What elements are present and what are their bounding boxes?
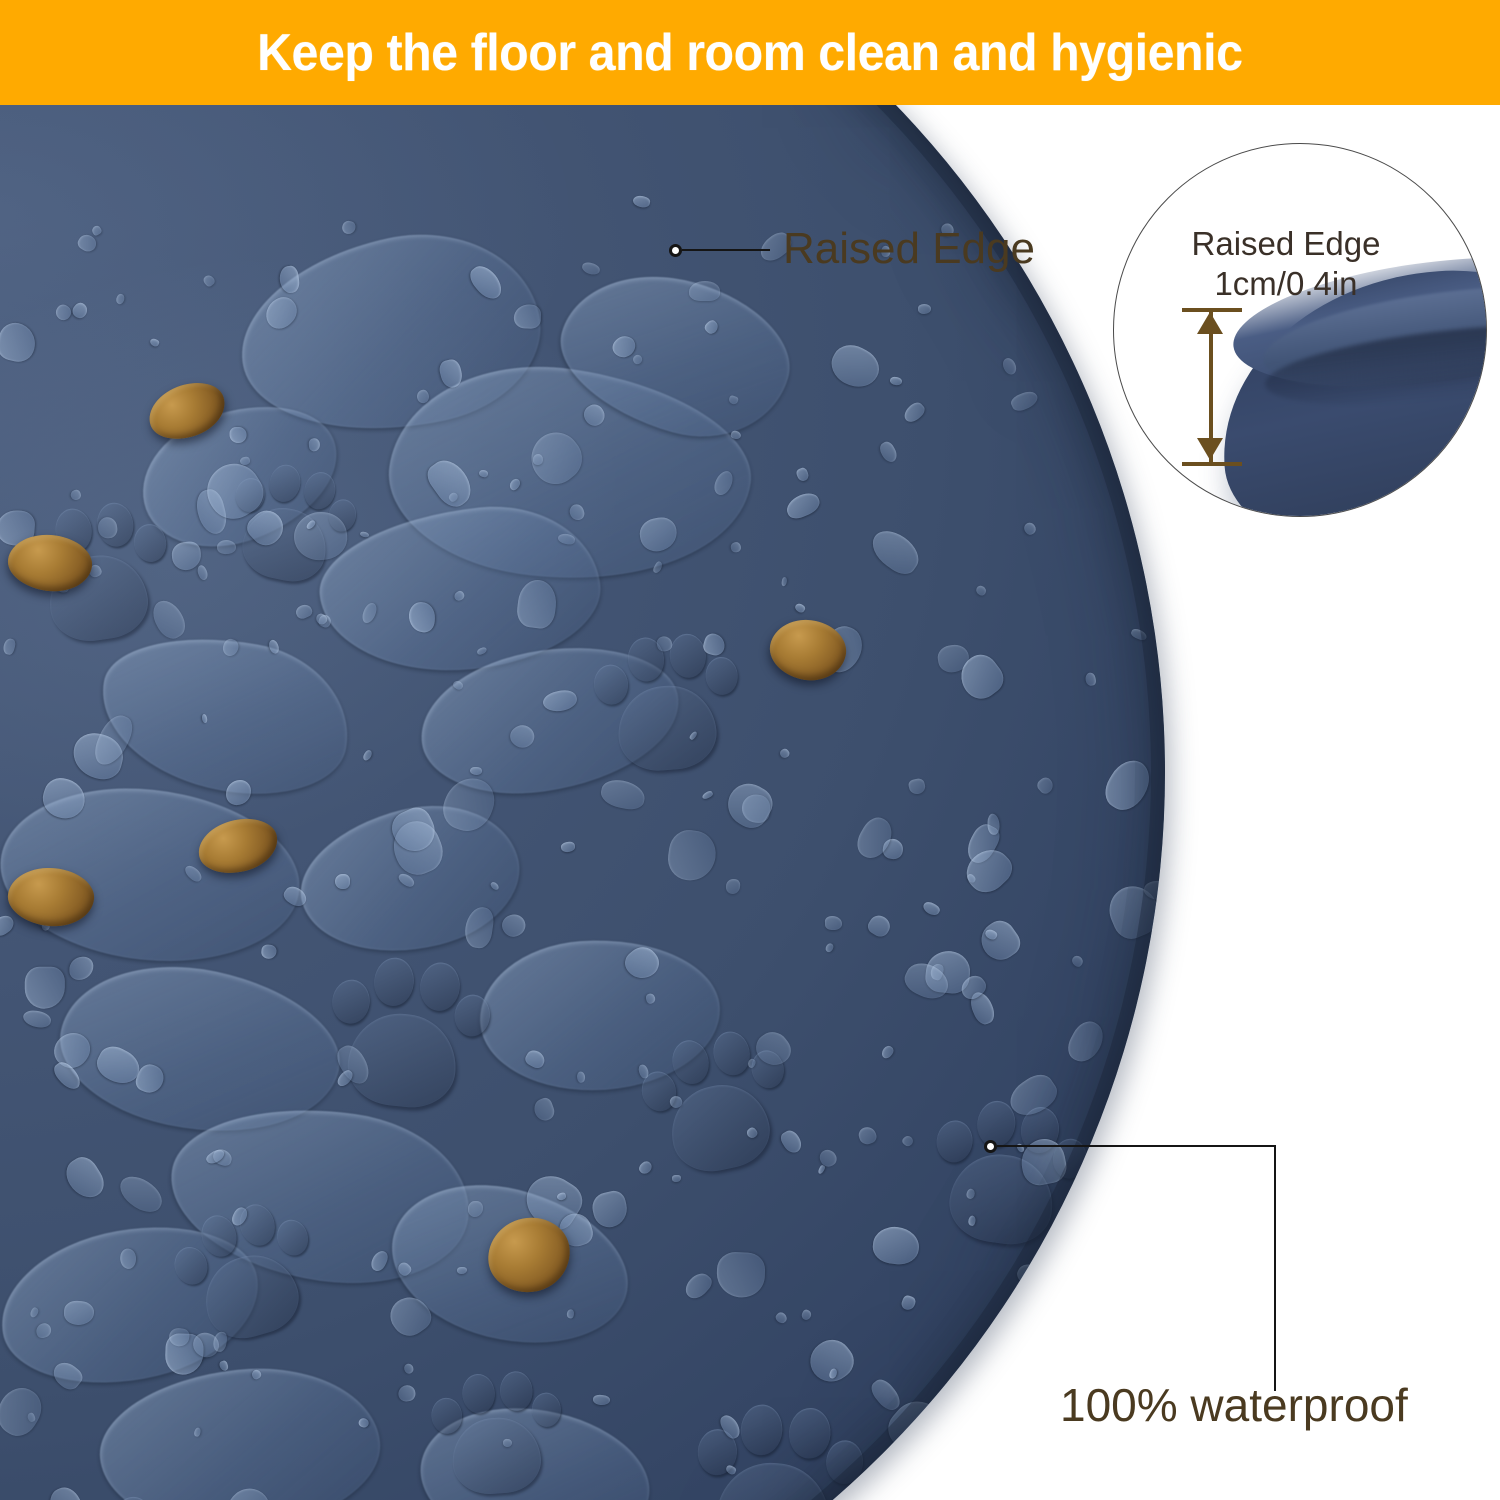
water-droplet (720, 776, 778, 833)
paw-toe (748, 1047, 787, 1091)
water-droplet (397, 1385, 416, 1403)
water-droplet (652, 561, 664, 575)
water-droplet (936, 643, 971, 675)
water-droplet (637, 1159, 654, 1176)
water-droplet (1052, 1345, 1076, 1370)
water-droplet (92, 1041, 145, 1090)
water-droplet (453, 590, 466, 603)
kibble-piece (142, 374, 232, 448)
paw-sole (450, 1415, 543, 1497)
water-droplet (656, 635, 674, 652)
paw-toe (170, 1243, 212, 1288)
water-droplet (205, 1147, 227, 1167)
pet-food-mat (0, 100, 1165, 1500)
water-droplet (523, 1048, 547, 1071)
raised-edge-callout-label: Raised Edge (783, 224, 1035, 274)
water-droplet (170, 541, 201, 572)
paw-toe (531, 1392, 562, 1428)
raised-edge-detail-inset: Raised Edge 1cm/0.4in (1113, 143, 1487, 517)
water-pool (312, 496, 607, 684)
water-droplet (60, 1152, 109, 1204)
water-droplet (740, 793, 770, 823)
water-droplet (194, 1427, 202, 1437)
water-droplet (0, 320, 39, 365)
water-droplet (533, 454, 544, 465)
water-droplet (468, 1201, 482, 1216)
water-droplet (1022, 520, 1038, 536)
kibble-piece (5, 529, 96, 596)
water-droplet (70, 300, 90, 321)
water-droplet (750, 1026, 797, 1073)
water-droplet (132, 1061, 166, 1096)
paw-toe (626, 636, 666, 683)
water-droplet (201, 713, 208, 723)
waterproof-leader-line-vertical (1274, 1145, 1276, 1391)
headline-text: Keep the floor and room clean and hygien… (257, 27, 1242, 79)
water-droplet (197, 454, 271, 528)
water-droplet (609, 331, 639, 361)
water-droplet (803, 1332, 861, 1390)
water-droplet (577, 1071, 586, 1083)
water-droplet (581, 261, 601, 276)
water-droplet (880, 1391, 956, 1467)
water-droplet (506, 720, 538, 752)
water-droplet (332, 1041, 374, 1089)
paw-sole (1015, 1458, 1126, 1500)
water-droplet (360, 531, 370, 539)
water-droplet (489, 881, 500, 892)
water-droplet (901, 1134, 915, 1148)
water-droplet (877, 439, 900, 464)
water-droplet (1117, 1087, 1165, 1136)
water-droplet (966, 989, 997, 1027)
paw-toe (132, 522, 169, 564)
water-droplet (335, 874, 350, 889)
water-droplet (41, 922, 50, 931)
paw-toe (273, 1216, 312, 1259)
water-droplet (521, 423, 591, 493)
paw-print (626, 1016, 804, 1194)
water-droplet (64, 1300, 95, 1325)
water-droplet (555, 1209, 595, 1250)
water-droplet (1102, 879, 1165, 945)
water-droplet (747, 1058, 757, 1069)
paw-print (584, 624, 747, 787)
water-droplet (819, 660, 834, 675)
water-droplet (1063, 1016, 1109, 1067)
water-droplet (703, 318, 721, 336)
water-droplet (716, 1252, 765, 1299)
water-droplet (1014, 1260, 1054, 1295)
paw-toe (53, 506, 95, 555)
water-droplet (69, 729, 128, 784)
water-droplet (567, 1309, 576, 1319)
water-droplet (556, 1192, 567, 1201)
water-droplet (211, 1147, 234, 1167)
water-droplet (962, 820, 1004, 868)
water-droplet (27, 1412, 36, 1423)
water-droplet (638, 1064, 650, 1079)
water-droplet (278, 265, 300, 294)
water-droplet (896, 1488, 939, 1500)
paw-toe (106, 1493, 156, 1500)
paw-print (10, 490, 179, 659)
water-droplet (201, 273, 216, 288)
water-droplet (900, 1294, 917, 1311)
paw-print (916, 1086, 1094, 1264)
water-droplet (222, 1483, 275, 1500)
paw-toe (453, 993, 492, 1038)
paw-print (35, 1475, 235, 1500)
water-droplet (1150, 523, 1165, 566)
water-droplet (542, 688, 579, 715)
tray-highlight-secondary (0, 161, 688, 960)
tray-highlight (0, 100, 588, 542)
water-droplet (22, 1009, 52, 1030)
paw-toe (592, 663, 629, 706)
water-droplet (1098, 753, 1158, 817)
water-droplet (795, 467, 810, 483)
water-droplet (689, 281, 720, 301)
water-droplet (1009, 388, 1040, 413)
paw-toe (461, 1373, 496, 1415)
water-droplet (918, 304, 931, 314)
water-droplet (967, 1215, 976, 1227)
paw-toe (235, 1200, 279, 1250)
water-droplet (965, 1188, 976, 1200)
water-droplet (1070, 953, 1084, 967)
water-droplet (774, 1311, 789, 1326)
water-droplet (114, 1170, 168, 1218)
water-droplet (306, 519, 317, 530)
water-droplet (196, 564, 210, 581)
water-droplet (308, 438, 320, 451)
water-droplet (857, 1125, 879, 1147)
water-droplet (470, 767, 482, 775)
water-droplet (908, 777, 927, 795)
paw-toe (668, 1037, 712, 1088)
water-droplet (531, 1096, 557, 1123)
water-droplet (1004, 1068, 1062, 1123)
water-pool (0, 1209, 271, 1402)
paw-sole (663, 1076, 776, 1179)
water-droplet (466, 260, 507, 303)
water-droplet (900, 957, 954, 1005)
water-droplet (51, 1058, 84, 1093)
water-droplet (25, 967, 65, 1009)
paw-toe (696, 1428, 738, 1477)
water-droplet (90, 710, 137, 770)
water-droplet (39, 773, 90, 822)
water-droplet (1130, 628, 1149, 643)
water-droplet (632, 353, 644, 365)
paw-toe (668, 632, 708, 679)
water-droplet (397, 871, 416, 889)
water-pool (410, 1391, 661, 1500)
water-droplet (216, 540, 236, 556)
water-droplet (503, 1438, 513, 1447)
water-droplet (221, 637, 241, 659)
waterproof-leader-dot (984, 1140, 997, 1153)
paw-print (423, 1363, 567, 1500)
water-droplet (959, 841, 1019, 900)
water-droplet (1138, 1125, 1151, 1138)
water-droplet (557, 533, 575, 546)
water-droplet (239, 456, 250, 466)
paw-toe (326, 497, 359, 534)
water-droplet (817, 1164, 826, 1174)
paw-toe (94, 500, 136, 549)
water-droplet (689, 730, 699, 740)
water-pool (124, 380, 356, 571)
water-droplet (219, 1360, 229, 1372)
water-droplet (1035, 775, 1056, 796)
water-droplet (383, 1290, 436, 1343)
water-pool (475, 932, 725, 1098)
water-droplet (47, 1025, 96, 1074)
water-droplet (404, 1363, 415, 1374)
water-droplet (70, 488, 83, 501)
water-droplet (1000, 356, 1018, 376)
paw-toe (1118, 1450, 1156, 1493)
water-droplet (259, 291, 302, 334)
water-droplet (229, 1205, 249, 1228)
paw-toe (1008, 1429, 1048, 1474)
water-droplet (580, 401, 608, 429)
water-droplet (974, 915, 1025, 967)
water-droplet (957, 971, 989, 1003)
water-droplet (901, 399, 927, 425)
paw-toe (638, 1068, 680, 1114)
raised-edge-leader-line (682, 249, 770, 251)
water-droplet (226, 780, 252, 806)
water-droplet (702, 790, 715, 801)
water-droplet (1084, 672, 1096, 686)
water-droplet (119, 1248, 138, 1270)
water-droplet (341, 219, 357, 235)
water-droplet (1138, 1330, 1151, 1343)
water-droplet (922, 900, 942, 917)
water-droplet (880, 1044, 896, 1061)
water-droplet (593, 1394, 610, 1405)
paw-sole (44, 549, 153, 646)
water-pool (0, 775, 308, 975)
water-droplet (29, 1306, 39, 1318)
inset-title: Raised Edge (1136, 224, 1436, 264)
water-droplet (167, 1326, 190, 1347)
water-droplet (778, 1127, 804, 1155)
water-droplet (589, 1188, 630, 1230)
water-droplet (53, 302, 74, 323)
water-droplet (361, 601, 379, 625)
water-droplet (507, 477, 521, 492)
water-droplet (778, 747, 791, 760)
paw-sole (945, 1148, 1059, 1250)
water-droplet (423, 453, 479, 513)
water-pool (46, 943, 353, 1158)
paw-toe (499, 1370, 534, 1412)
water-droplet (725, 1465, 737, 1476)
water-droplet (230, 428, 247, 444)
paw-toe (301, 469, 339, 512)
paw-toe (233, 475, 268, 514)
water-droplet (730, 430, 742, 440)
water-pool (224, 211, 557, 459)
water-droplet (818, 622, 868, 678)
water-droplet (966, 873, 977, 884)
water-droplet (517, 1167, 589, 1237)
water-droplet (317, 614, 332, 629)
water-droplet (868, 1375, 905, 1414)
water-droplet (438, 358, 465, 390)
water-droplet (183, 863, 204, 884)
water-droplet (890, 376, 903, 386)
water-droplet (1016, 1142, 1026, 1153)
water-droplet (0, 912, 16, 938)
water-droplet (866, 912, 894, 940)
paw-sole (344, 1009, 461, 1112)
water-droplet (267, 639, 281, 655)
water-pool (412, 633, 689, 808)
water-droplet (637, 515, 680, 555)
water-pool (89, 619, 361, 810)
water-droplet (499, 910, 529, 940)
water-droplet (825, 338, 886, 395)
paw-toe (787, 1407, 832, 1460)
water-droplet (665, 827, 719, 883)
water-droplet (632, 195, 651, 209)
water-droplet (90, 224, 102, 236)
water-droplet (1137, 484, 1165, 524)
water-droplet (871, 1225, 921, 1267)
paw-toe (739, 1403, 784, 1456)
water-droplet (314, 612, 329, 627)
water-droplet (408, 602, 436, 633)
water-droplet (726, 879, 742, 895)
water-pool (544, 251, 806, 459)
water-droplet (801, 1309, 814, 1322)
water-droplet (115, 292, 127, 305)
dimension-arrowhead-down (1197, 438, 1223, 460)
water-droplet (516, 578, 560, 630)
water-droplet (1091, 1479, 1117, 1498)
water-droplet (745, 1126, 759, 1140)
water-droplet (952, 649, 1009, 707)
kibble-piece (484, 1214, 573, 1296)
kibble-piece (765, 613, 852, 687)
water-droplet (828, 1368, 838, 1380)
paw-toe (709, 1028, 753, 1079)
water-droplet (193, 487, 230, 537)
paw-toe (934, 1118, 975, 1165)
water-droplet (414, 389, 431, 406)
water-droplet (213, 1331, 229, 1353)
water-droplet (727, 394, 738, 404)
water-droplet (386, 815, 450, 882)
water-droplet (987, 813, 1000, 835)
water-droplet (0, 1380, 49, 1442)
inset-text-block: Raised Edge 1cm/0.4in (1136, 224, 1436, 305)
water-droplet (243, 504, 290, 551)
water-droplet (478, 469, 489, 479)
dimension-arrowhead-up (1197, 312, 1223, 334)
water-droplet (396, 1260, 413, 1277)
water-droplet (568, 502, 586, 521)
water-pool (377, 346, 763, 604)
water-droplet (729, 541, 741, 552)
water-droplet (711, 468, 738, 498)
water-droplet (294, 603, 314, 621)
water-droplet (457, 1267, 467, 1274)
water-droplet (463, 905, 496, 949)
product-marketing-image: Raised Edge 100% waterproof Raised Edge … (0, 0, 1500, 1500)
water-droplet (881, 838, 904, 861)
water-droplet (0, 509, 36, 547)
water-droplet (825, 916, 843, 930)
raised-edge-leader-dot (669, 244, 682, 257)
kibble-piece (5, 864, 97, 931)
water-droplet (251, 1368, 263, 1380)
water-droplet (282, 883, 311, 910)
water-droplet (368, 1248, 390, 1273)
water-droplet (149, 337, 160, 347)
water-droplet (1122, 1149, 1165, 1206)
water-droplet (261, 944, 278, 960)
water-droplet (437, 770, 501, 838)
water-droplet (53, 580, 70, 594)
water-droplet (362, 749, 373, 762)
paw-print (683, 1393, 867, 1500)
water-droplet (148, 595, 191, 643)
water-droplet (164, 1333, 204, 1375)
water-droplet (452, 679, 465, 691)
paw-print (314, 944, 495, 1125)
water-droplet (291, 509, 350, 563)
water-droplet (387, 803, 442, 858)
paw-toe (266, 462, 304, 505)
water-droplet (702, 632, 728, 658)
water-droplet (851, 813, 898, 865)
waterproof-leader-line-horizontal (997, 1145, 1276, 1147)
water-pool (286, 785, 533, 974)
water-droplet (86, 563, 102, 579)
inset-measurement: 1cm/0.4in (1136, 264, 1436, 304)
tray-raised-edge-inner (0, 100, 1165, 1500)
water-droplet (818, 1147, 839, 1169)
water-pool (160, 1090, 481, 1300)
water-droplet (357, 1417, 369, 1429)
water-droplet (668, 1093, 684, 1109)
tray-raised-edge-band (0, 100, 1165, 1500)
paw-toe (825, 1439, 865, 1485)
water-droplet (681, 1269, 714, 1303)
water-droplet (69, 957, 94, 980)
paw-sole (615, 682, 720, 774)
water-droplet (49, 1358, 85, 1393)
water-droplet (984, 928, 999, 942)
water-droplet (2, 637, 17, 656)
paw-toe (430, 1397, 463, 1435)
water-droplet (782, 577, 789, 587)
paw-toe (330, 978, 372, 1026)
paw-toe (974, 1098, 1018, 1149)
headline-banner: Keep the floor and room clean and hygien… (0, 0, 1500, 105)
water-droplet (646, 993, 657, 1004)
paw-toe (1018, 1105, 1062, 1156)
water-droplet (560, 841, 576, 853)
water-droplet (717, 1412, 742, 1441)
water-droplet (97, 517, 119, 540)
